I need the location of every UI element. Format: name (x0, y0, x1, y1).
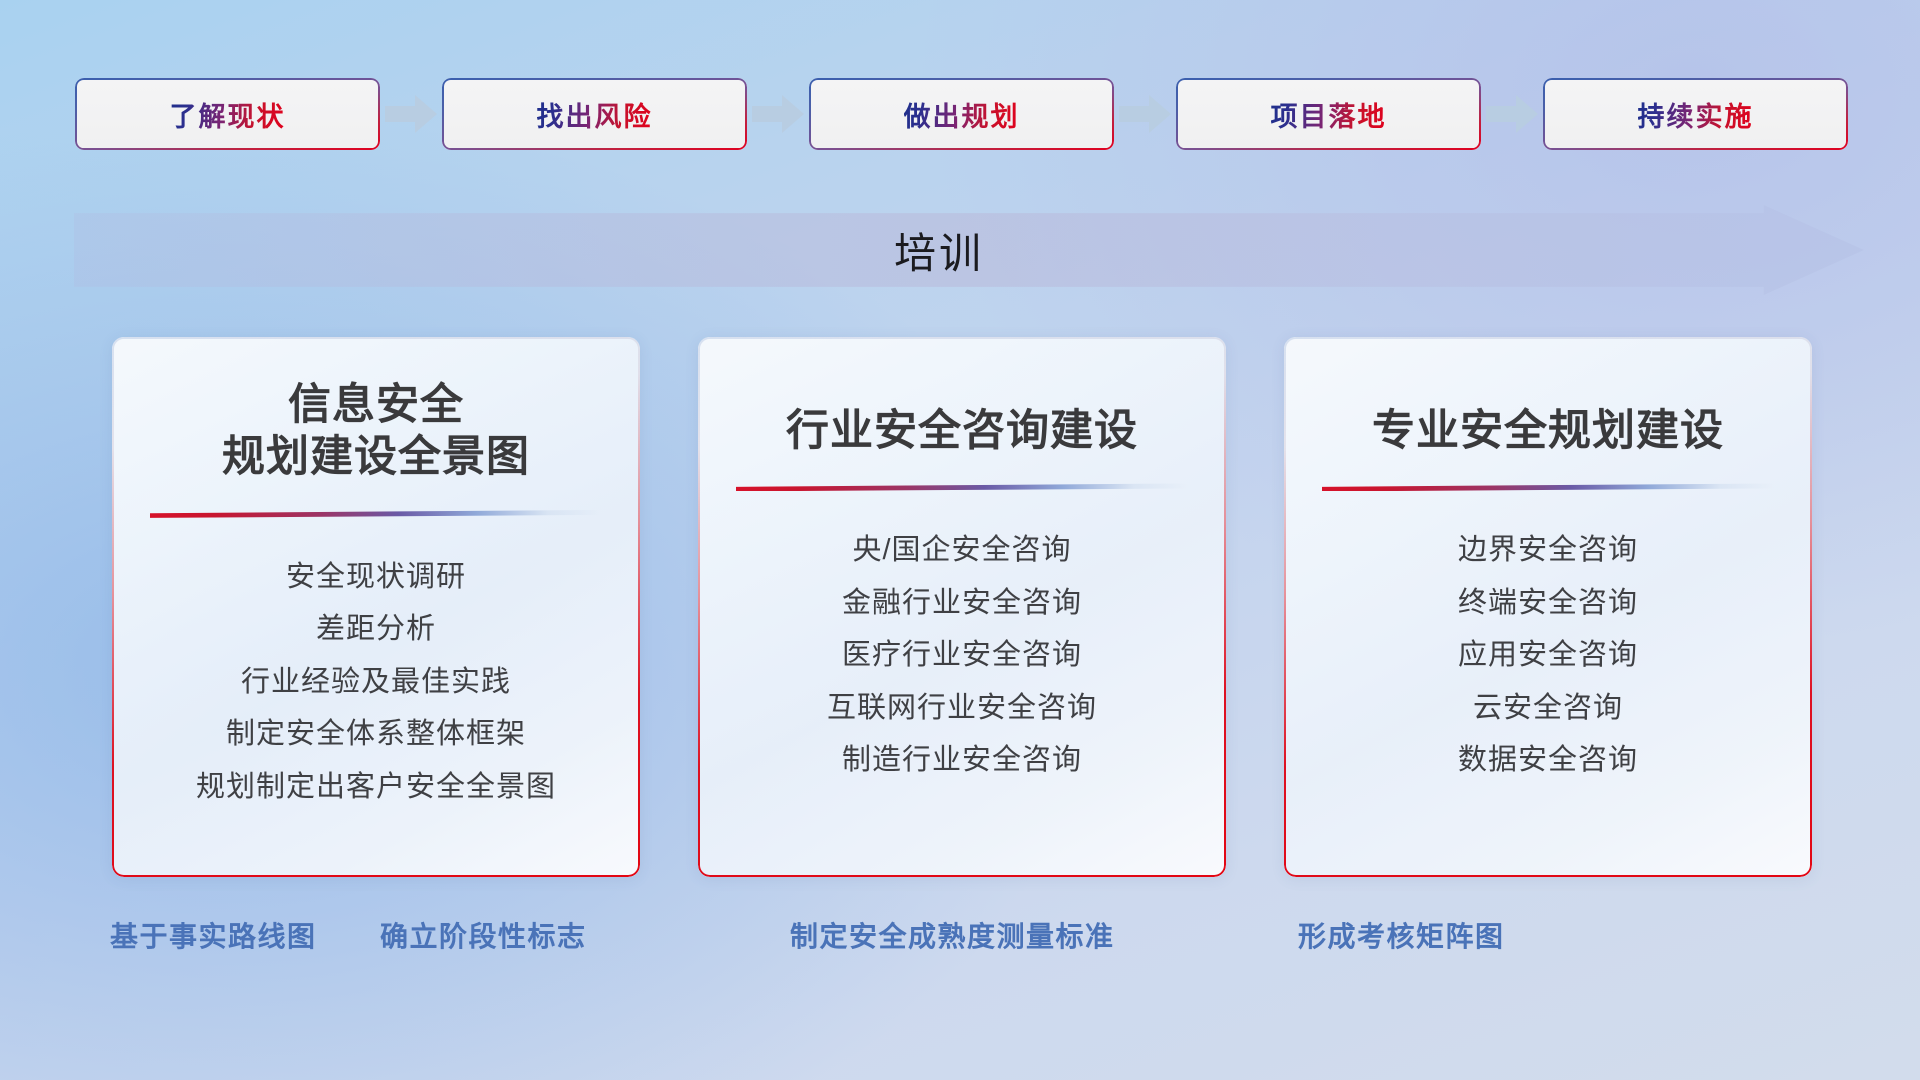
list-item: 行业经验及最佳实践 (241, 661, 511, 705)
training-banner: 培训 (74, 205, 1864, 295)
card-group: 信息安全 规划建设全景图 安全现状调研 差距分析 行业经验及最佳实践 制定安全体… (112, 337, 1812, 877)
card-information-security-panorama[interactable]: 信息安全 规划建设全景图 安全现状调研 差距分析 行业经验及最佳实践 制定安全体… (112, 337, 640, 877)
card-title-line: 规划建设全景图 (140, 431, 612, 483)
process-step-label: 项目落地 (1271, 95, 1387, 134)
bottom-label-milestone: 确立阶段性标志 (380, 915, 587, 955)
list-item: 制定安全体系整体框架 (226, 713, 526, 757)
banner-title: 培训 (74, 205, 1864, 295)
list-item: 边界安全咨询 (1458, 529, 1638, 573)
card-divider (150, 510, 602, 518)
process-step-label: 了解现状 (170, 95, 286, 134)
arrow-right-icon (1114, 78, 1176, 150)
list-item: 央/国企安全咨询 (852, 529, 1071, 573)
list-item: 金融行业安全咨询 (842, 582, 1082, 626)
card-professional-security-planning[interactable]: 专业安全规划建设 边界安全咨询 终端安全咨询 应用安全咨询 云安全咨询 数据安全… (1284, 337, 1812, 877)
card-title: 行业安全咨询建设 (726, 337, 1198, 457)
card-divider (1322, 483, 1774, 491)
bottom-label-matrix: 形成考核矩阵图 (1298, 915, 1505, 955)
card-title-line: 行业安全咨询建设 (726, 405, 1198, 457)
process-step-4[interactable]: 项目落地 (1176, 78, 1481, 150)
card-item-list: 央/国企安全咨询 金融行业安全咨询 医疗行业安全咨询 互联网行业安全咨询 制造行… (726, 529, 1198, 783)
card-title-line: 信息安全 (140, 379, 612, 431)
arrow-right-icon (747, 78, 809, 150)
card-title: 信息安全 规划建设全景图 (140, 337, 612, 484)
process-step-label: 持续实施 (1638, 95, 1754, 134)
process-step-label: 找出风险 (537, 95, 653, 134)
list-item: 医疗行业安全咨询 (842, 634, 1082, 678)
arrow-right-icon (380, 78, 442, 150)
card-item-list: 安全现状调研 差距分析 行业经验及最佳实践 制定安全体系整体框架 规划制定出客户… (140, 556, 612, 810)
process-step-1[interactable]: 了解现状 (75, 78, 380, 150)
list-item: 安全现状调研 (286, 556, 466, 600)
process-step-2[interactable]: 找出风险 (442, 78, 747, 150)
card-industry-security-consulting[interactable]: 行业安全咨询建设 央/国企安全咨询 金融行业安全咨询 医疗行业安全咨询 互联网行… (698, 337, 1226, 877)
card-title: 专业安全规划建设 (1312, 337, 1784, 457)
list-item: 云安全咨询 (1473, 687, 1623, 731)
bottom-label-maturity: 制定安全成熟度测量标准 (790, 915, 1115, 955)
process-step-5[interactable]: 持续实施 (1543, 78, 1848, 150)
card-title-line: 专业安全规划建设 (1312, 405, 1784, 457)
list-item: 终端安全咨询 (1458, 582, 1638, 626)
list-item: 数据安全咨询 (1458, 739, 1638, 783)
bottom-label-row: 基于事实路线图 确立阶段性标志 制定安全成熟度测量标准 形成考核矩阵图 (0, 915, 1920, 961)
list-item: 规划制定出客户安全全景图 (196, 766, 556, 810)
card-item-list: 边界安全咨询 终端安全咨询 应用安全咨询 云安全咨询 数据安全咨询 (1312, 529, 1784, 783)
process-step-label: 做出规划 (904, 95, 1020, 134)
arrow-right-icon (1481, 78, 1543, 150)
bottom-label-roadmap: 基于事实路线图 (110, 915, 317, 955)
process-step-3[interactable]: 做出规划 (809, 78, 1114, 150)
slide-canvas: 了解现状 找出风险 做出规划 项目落地 持续实施 培训 (0, 0, 1920, 1080)
list-item: 互联网行业安全咨询 (827, 687, 1097, 731)
list-item: 应用安全咨询 (1458, 634, 1638, 678)
card-divider (736, 483, 1188, 491)
list-item: 差距分析 (316, 608, 436, 652)
process-flow: 了解现状 找出风险 做出规划 项目落地 持续实施 (75, 78, 1845, 150)
list-item: 制造行业安全咨询 (842, 739, 1082, 783)
